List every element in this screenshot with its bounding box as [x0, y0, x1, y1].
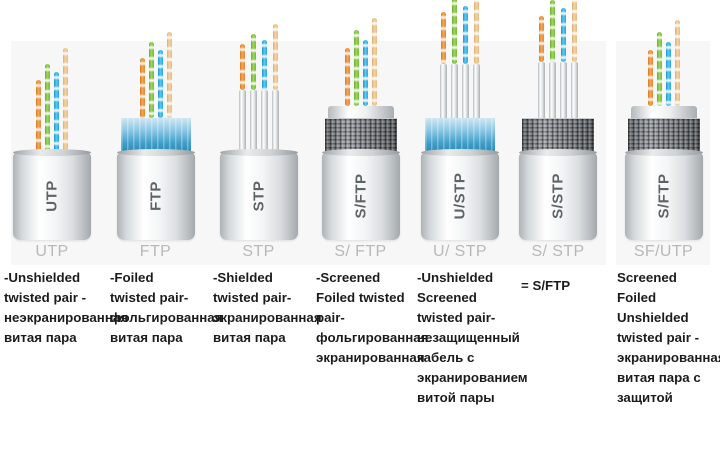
cable-jacket: FTP [117, 152, 195, 240]
wire-orange [140, 58, 145, 118]
jacket-label: UTP [44, 180, 61, 212]
pair-shield-sleeve [560, 62, 567, 118]
jacket-label: FTP [147, 181, 164, 211]
wire-blue [463, 6, 468, 64]
jacket-label: STP [250, 181, 267, 212]
cable-column-s-ftp: S/FTP S/ FTP -Screened Foiled twisted pa… [310, 0, 411, 450]
cable-column-u-stp: U/STP U/ STP -Unshielded Screened twiste… [411, 0, 509, 450]
pair-shield-sleeve [239, 90, 246, 152]
column-header-label: FTP [104, 243, 207, 261]
wire-brown [474, 0, 479, 64]
cable-column-ftp: FTP FTP -Foiled twisted pair-фольгирован… [104, 0, 207, 450]
shielded-twisted-pairs [421, 8, 499, 118]
wire-green [149, 42, 154, 118]
wire-brown [167, 32, 172, 118]
wire-brown [63, 48, 68, 152]
pair-shield-sleeve [440, 64, 447, 118]
column-header-label: U/ STP [411, 243, 509, 261]
wire-green [251, 34, 256, 90]
column-header-label: S/ STP [509, 243, 607, 261]
cable-column-stp: STP STP -Shielded twisted pair-экраниров… [207, 0, 310, 450]
foil-shield [121, 118, 191, 152]
wire-green [354, 30, 359, 106]
wire-orange [345, 48, 350, 106]
shielded-twisted-pairs [220, 42, 298, 152]
wire-blue [54, 72, 59, 152]
cable-jacket: S/FTP [322, 152, 400, 240]
pair-shield-sleeve [538, 62, 545, 118]
twisted-pairs [322, 0, 400, 106]
cable-jacket: UTP [13, 152, 91, 240]
pair-shield-sleeve [451, 64, 458, 118]
pair-shield-sleeve [272, 90, 279, 152]
wire-brown [572, 0, 577, 62]
twisted-pairs [625, 0, 703, 106]
column-header-label: S/ FTP [310, 243, 411, 261]
pair-shield-sleeve [549, 62, 556, 118]
wire-blue [561, 8, 566, 62]
braided-screen [325, 118, 397, 152]
column-header-label: STP [207, 243, 310, 261]
column-container: UTP UTP -Unshielded twisted pair - неэкр… [0, 0, 720, 450]
jacket-label: S/FTP [655, 173, 672, 218]
cable-column-sf-utp: S/FTP SF/UTP Screened Foiled Unshielded … [607, 0, 720, 450]
wire-green [657, 32, 662, 106]
column-description: = S/FTP [515, 276, 601, 296]
wire-orange [441, 12, 446, 64]
wire-orange [36, 80, 41, 152]
jacket-label: S/FTP [352, 173, 369, 218]
pair-shield-sleeve [473, 64, 480, 118]
jacket-label: U/STP [452, 173, 469, 220]
wire-brown [372, 18, 377, 106]
cable-shielding-diagram: UTP UTP -Unshielded twisted pair - неэкр… [0, 0, 720, 450]
twisted-pairs [13, 42, 91, 152]
wire-green [45, 64, 50, 152]
wire-orange [539, 16, 544, 62]
column-header-label: UTP [0, 243, 104, 261]
shielded-twisted-pairs [519, 8, 597, 118]
column-header-label: SF/UTP [607, 243, 720, 261]
wire-blue [666, 42, 671, 106]
inner-sheath-ring [631, 106, 697, 118]
braided-screen [628, 118, 700, 152]
wire-orange [648, 50, 653, 106]
column-description: -Unshielded Screened twisted pair-незащи… [417, 268, 503, 408]
wire-brown [675, 20, 680, 106]
column-description: -Shielded twisted pair-экранированная ви… [213, 268, 304, 348]
wire-brown [273, 24, 278, 90]
pair-shield-sleeve [462, 64, 469, 118]
pair-shield-sleeve [571, 62, 578, 118]
column-description: -Unshielded twisted pair - неэкранирован… [4, 268, 98, 348]
wire-blue [158, 50, 163, 118]
column-description: -Foiled twisted pair-фольгированная вита… [110, 268, 201, 348]
wire-orange [240, 44, 245, 90]
wire-green [452, 0, 457, 64]
cable-column-utp: UTP UTP -Unshielded twisted pair - неэкр… [0, 0, 104, 450]
foil-shield [425, 118, 495, 152]
jacket-label: S/STP [550, 173, 567, 219]
column-description: -Screened Foiled twisted pair-фольгирова… [316, 268, 405, 368]
cable-jacket: S/FTP [625, 152, 703, 240]
cable-column-s-stp: S/STP S/ STP = S/FTP [509, 0, 607, 450]
column-description: Screened Foiled Unshielded twisted pair … [617, 268, 718, 408]
twisted-pairs [117, 8, 195, 118]
wire-green [550, 0, 555, 62]
cable-jacket: STP [220, 152, 298, 240]
cable-jacket: S/STP [519, 152, 597, 240]
cable-jacket: U/STP [421, 152, 499, 240]
pair-shield-sleeve [261, 90, 268, 152]
inner-sheath-ring [328, 106, 394, 118]
braided-screen [522, 118, 594, 152]
wire-blue [262, 40, 267, 90]
pair-shield-sleeve [250, 90, 257, 152]
wire-blue [363, 40, 368, 106]
